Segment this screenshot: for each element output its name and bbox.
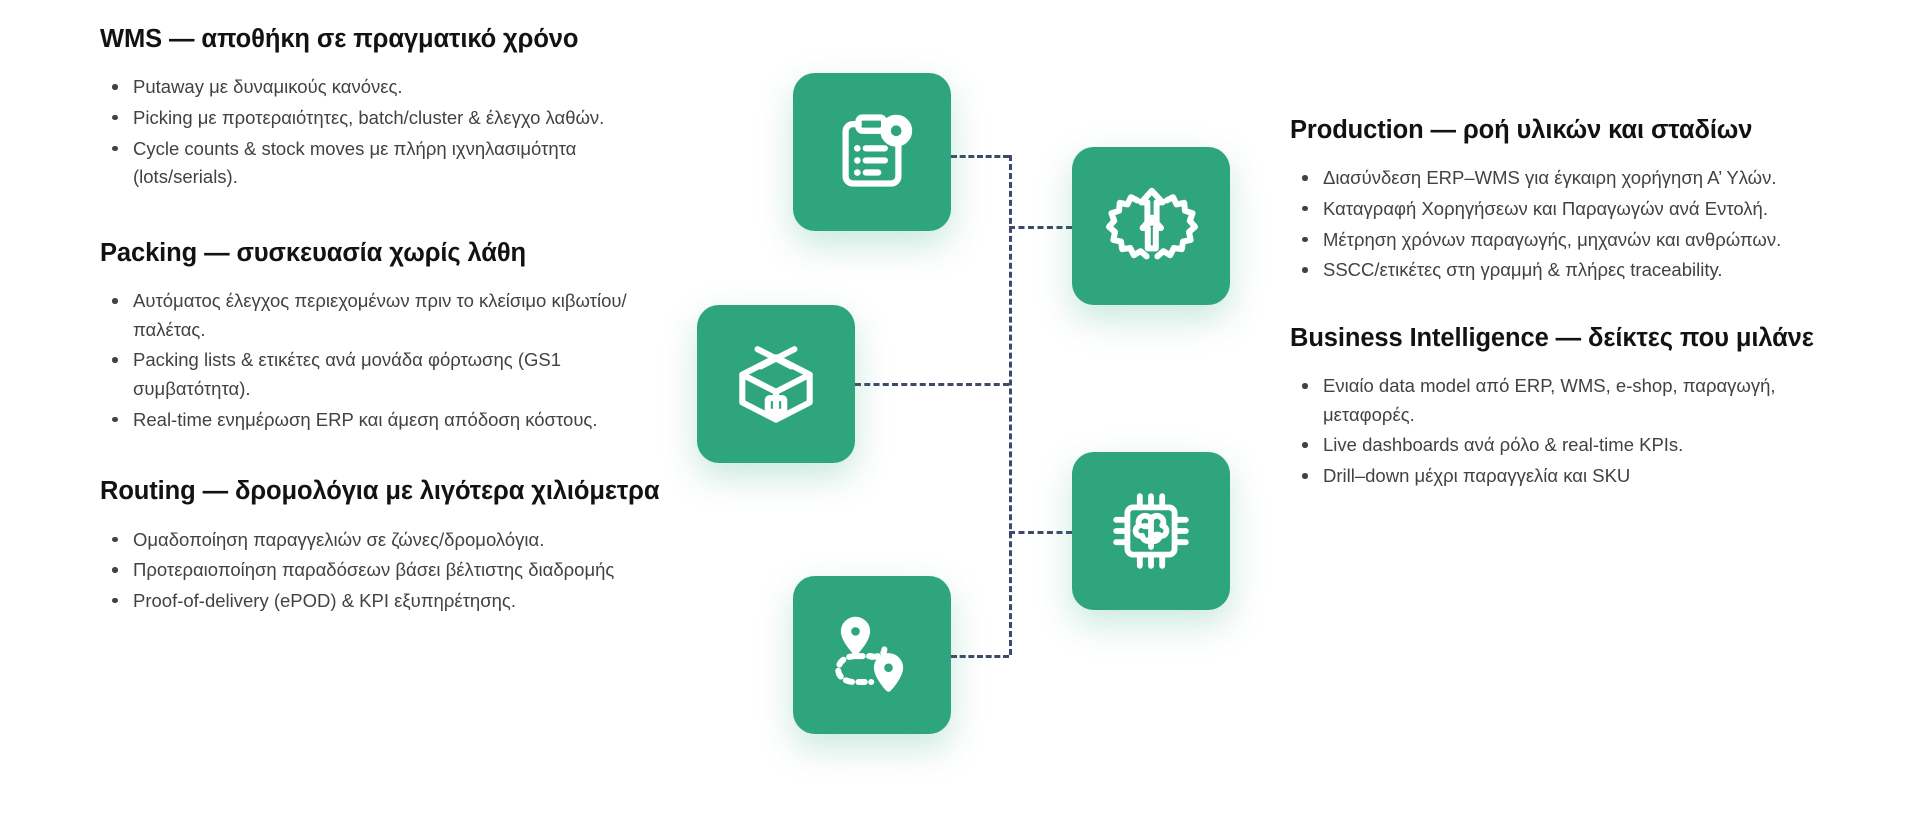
bullet-list-wms: Putaway με δυναμικούς κανόνες. Picking μ…	[100, 73, 660, 192]
connector-trunk-to-bi	[1009, 531, 1072, 534]
node-packing[interactable]	[697, 305, 855, 463]
connector-vertical-trunk	[1009, 155, 1012, 655]
node-production[interactable]	[1072, 147, 1230, 305]
node-bi[interactable]	[1072, 452, 1230, 610]
open-box-icon	[729, 337, 823, 431]
list-item: Packing lists & ετικέτες ανά μονάδα φόρτ…	[100, 346, 660, 403]
section-title-bi: Business Intelligence — δείκτες που μιλά…	[1290, 321, 1870, 356]
list-item: Picking με προτεραιότητες, batch/cluster…	[100, 104, 660, 133]
clipboard-checklist-icon	[828, 108, 916, 196]
route-pins-icon	[827, 610, 917, 700]
node-wms[interactable]	[793, 73, 951, 231]
section-title-packing: Packing — συσκευασία χωρίς λάθη	[100, 236, 660, 271]
section-packing: Packing — συσκευασία χωρίς λάθη Αυτόματο…	[100, 236, 660, 435]
bullet-list-routing: Ομαδοποίηση παραγγελιών σε ζώνες/δρομολό…	[100, 526, 660, 616]
connector-routing-to-trunk	[951, 655, 1009, 658]
section-title-routing: Routing — δρομολόγια με λιγότερα χιλιόμε…	[100, 474, 660, 509]
list-item: Cycle counts & stock moves με πλήρη ιχνη…	[100, 135, 660, 192]
bullet-list-production: Διασύνδεση ERP–WMS για έγκαιρη χορήγηση …	[1290, 164, 1870, 285]
connector-packing-to-trunk	[855, 383, 1009, 386]
right-text-column: Production — ροή υλικών και σταδίων Διασ…	[1290, 0, 1870, 495]
brain-chip-icon	[1103, 483, 1199, 579]
list-item: Real-time ενημέρωση ERP και άμεση απόδοσ…	[100, 406, 660, 435]
list-item: SSCC/ετικέτες στη γραμμή & πλήρες tracea…	[1290, 256, 1870, 285]
list-item: Ενιαίο data model από ERP, WMS, e-shop, …	[1290, 372, 1870, 429]
list-item: Μέτρηση χρόνων παραγωγής, μηχανών και αν…	[1290, 226, 1870, 255]
list-item: Αυτόματος έλεγχος περιεχομένων πριν το κ…	[100, 287, 660, 344]
section-wms: WMS — αποθήκη σε πραγματικό χρόνο Putawa…	[100, 22, 660, 192]
list-item: Proof-of-delivery (ePOD) & KPI εξυπηρέτη…	[100, 587, 660, 616]
connector-trunk-to-production	[1009, 226, 1072, 229]
bullet-list-packing: Αυτόματος έλεγχος περιεχομένων πριν το κ…	[100, 287, 660, 434]
gear-arrows-icon	[1103, 178, 1199, 274]
list-item: Διασύνδεση ERP–WMS για έγκαιρη χορήγηση …	[1290, 164, 1870, 193]
section-routing: Routing — δρομολόγια με λιγότερα χιλιόμε…	[100, 474, 660, 615]
list-item: Live dashboards ανά ρόλο & real-time KPI…	[1290, 431, 1870, 460]
left-text-column: WMS — αποθήκη σε πραγματικό χρόνο Putawa…	[100, 0, 660, 620]
section-production: Production — ροή υλικών και σταδίων Διασ…	[1290, 113, 1870, 285]
connector-wms-to-trunk	[951, 155, 1009, 158]
infographic-canvas: WMS — αποθήκη σε πραγματικό χρόνο Putawa…	[0, 0, 1920, 838]
list-item: Καταγραφή Χορηγήσεων και Παραγωγών ανά Ε…	[1290, 195, 1870, 224]
node-routing[interactable]	[793, 576, 951, 734]
section-title-wms: WMS — αποθήκη σε πραγματικό χρόνο	[100, 22, 660, 57]
list-item: Drill–down μέχρι παραγγελία και SKU	[1290, 462, 1870, 491]
list-item: Προτεραιοποίηση παραδόσεων βάσει βέλτιστ…	[100, 556, 660, 585]
bullet-list-bi: Ενιαίο data model από ERP, WMS, e-shop, …	[1290, 372, 1870, 491]
list-item: Putaway με δυναμικούς κανόνες.	[100, 73, 660, 102]
list-item: Ομαδοποίηση παραγγελιών σε ζώνες/δρομολό…	[100, 526, 660, 555]
section-title-production: Production — ροή υλικών και σταδίων	[1290, 113, 1870, 148]
section-bi: Business Intelligence — δείκτες που μιλά…	[1290, 321, 1870, 491]
